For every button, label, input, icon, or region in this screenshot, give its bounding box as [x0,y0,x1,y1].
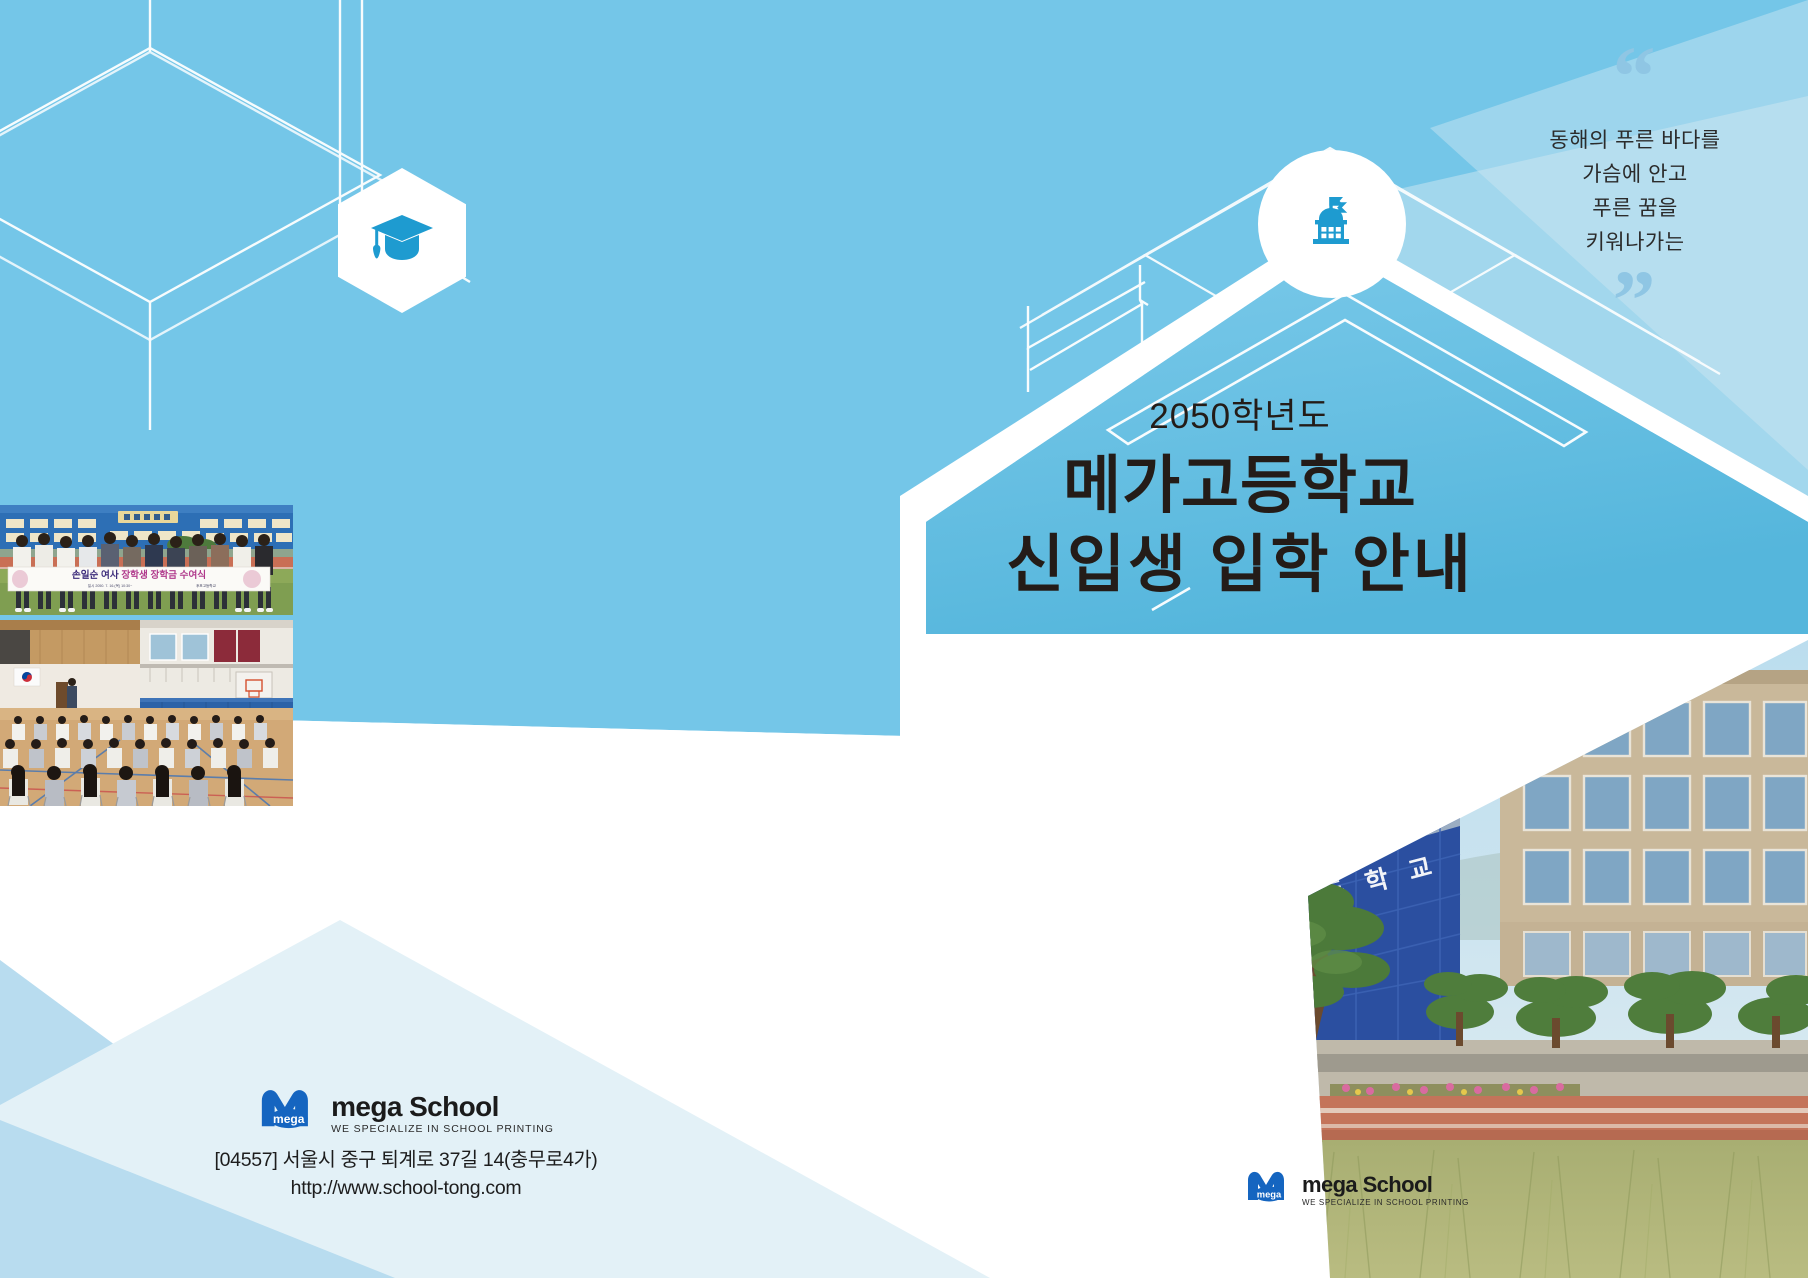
brochure-cover: “ 동해의 푸른 바다를 가슴에 안고 푸른 꿈을 키워나가는 ” 2050학년… [0,0,1808,1278]
school-building-badge [1258,150,1406,298]
title-subject: 신입생 입학 안내 [960,526,1520,605]
publisher-website[interactable]: http://www.school-tong.com [196,1175,616,1203]
tagline-quote: “ 동해의 푸른 바다를 가슴에 안고 푸른 꿈을 키워나가는 ” [1480,46,1790,332]
mega-logo-name: mega School [1302,1174,1469,1196]
svg-text:후포고등학교: 후포고등학교 [196,583,217,588]
publisher-address-block: [04557] 서울시 중구 퇴계로 37길 14(충무로4가) http://… [196,1147,616,1202]
mega-logo-mark-icon: mega [258,1085,322,1134]
mega-logo-tagline: WE SPECIALIZE IN SCHOOL PRINTING [1302,1199,1469,1207]
ceremony-banner: 손일순 여사 장학생 장학금 수여식 일시 2050. 7. 16.(목) 10… [8,567,270,591]
mega-logo-text: mega School WE SPECIALIZE IN SCHOOL PRIN… [1302,1174,1469,1207]
korean-flag [14,668,40,686]
svg-text:mega: mega [273,1112,305,1126]
quote-open-mark: “ [1480,46,1790,108]
basketball-hoop [236,672,272,698]
graduation-cap-icon [369,211,435,270]
publisher-footer: mega mega School WE SPECIALIZE IN SCHOOL… [196,1085,616,1202]
photo-gymnasium-assembly [0,620,293,806]
svg-text:mega: mega [1257,1188,1282,1199]
quote-line-1: 동해의 푸른 바다를 [1480,124,1790,158]
quote-lines: 동해의 푸른 바다를 가슴에 안고 푸른 꿈을 키워나가는 [1480,124,1790,260]
photo-watermark-logo: mega mega School WE SPECIALIZE IN SCHOOL… [1245,1168,1469,1207]
title-academic-year: 2050학년도 [960,388,1520,439]
mega-logo-tagline: WE SPECIALIZE IN SCHOOL PRINTING [331,1124,554,1135]
mega-logo-mark-icon: mega [1245,1168,1295,1207]
title-school-name: 메가고등학교 [960,447,1520,526]
svg-text:손일순 여사 장학생 장학금 수여식: 손일순 여사 장학생 장학금 수여식 [72,569,206,581]
school-building-icon [1303,193,1361,256]
svg-text:일시 2050. 7. 16.(목) 10:30~: 일시 2050. 7. 16.(목) 10:30~ [88,583,132,588]
photo-scholarship-ceremony: 손일순 여사 장학생 장학금 수여식 일시 2050. 7. 16.(목) 10… [0,505,293,615]
quote-close-mark: ” [1480,270,1790,332]
quote-line-3: 푸른 꿈을 [1480,192,1790,226]
cover-title-block: 2050학년도 메가고등학교 신입생 입학 안내 [960,388,1520,606]
footer-logo-row: mega mega School WE SPECIALIZE IN SCHOOL… [196,1085,616,1134]
graduation-cap-badge [338,168,466,313]
quote-line-2: 가슴에 안고 [1480,158,1790,192]
mega-logo-text: mega School WE SPECIALIZE IN SCHOOL PRIN… [331,1093,554,1135]
mega-logo-name: mega School [331,1093,554,1121]
publisher-address: [04557] 서울시 중구 퇴계로 37길 14(충무로4가) [196,1147,616,1175]
